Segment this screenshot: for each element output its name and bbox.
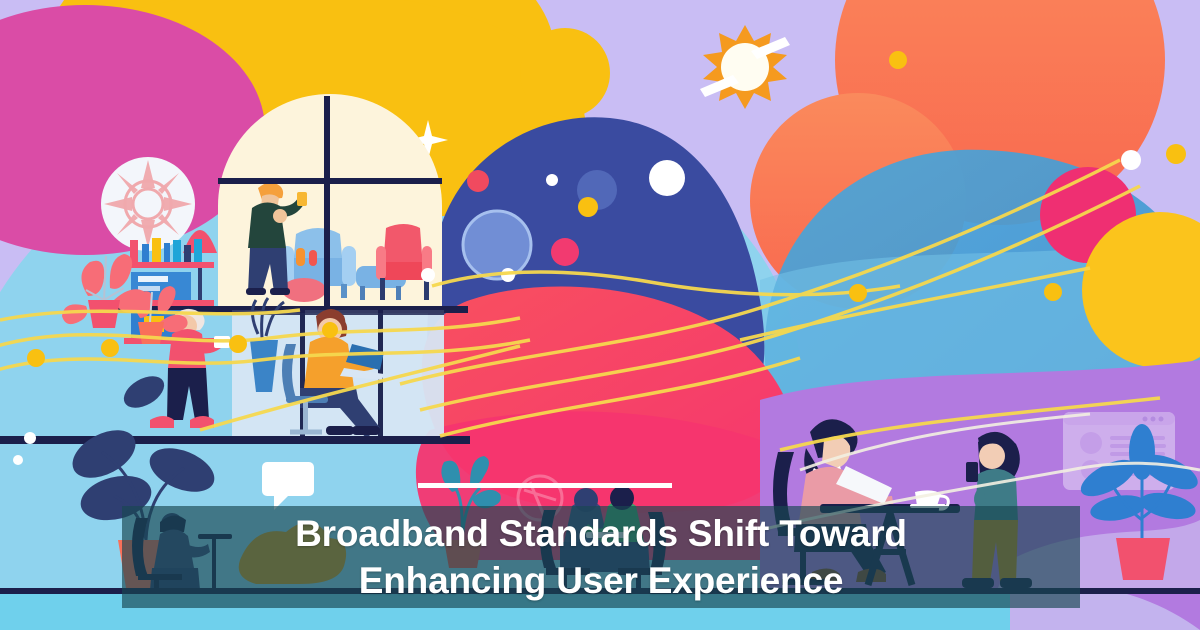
headline-line-2: Enhancing User Experience bbox=[359, 557, 843, 604]
banner-canvas: Broadband Standards Shift Toward Enhanci… bbox=[0, 0, 1200, 630]
headline-overlay: Broadband Standards Shift Toward Enhanci… bbox=[122, 506, 1080, 608]
headline-line-1: Broadband Standards Shift Toward bbox=[295, 510, 907, 557]
title-divider-rule bbox=[418, 483, 672, 488]
